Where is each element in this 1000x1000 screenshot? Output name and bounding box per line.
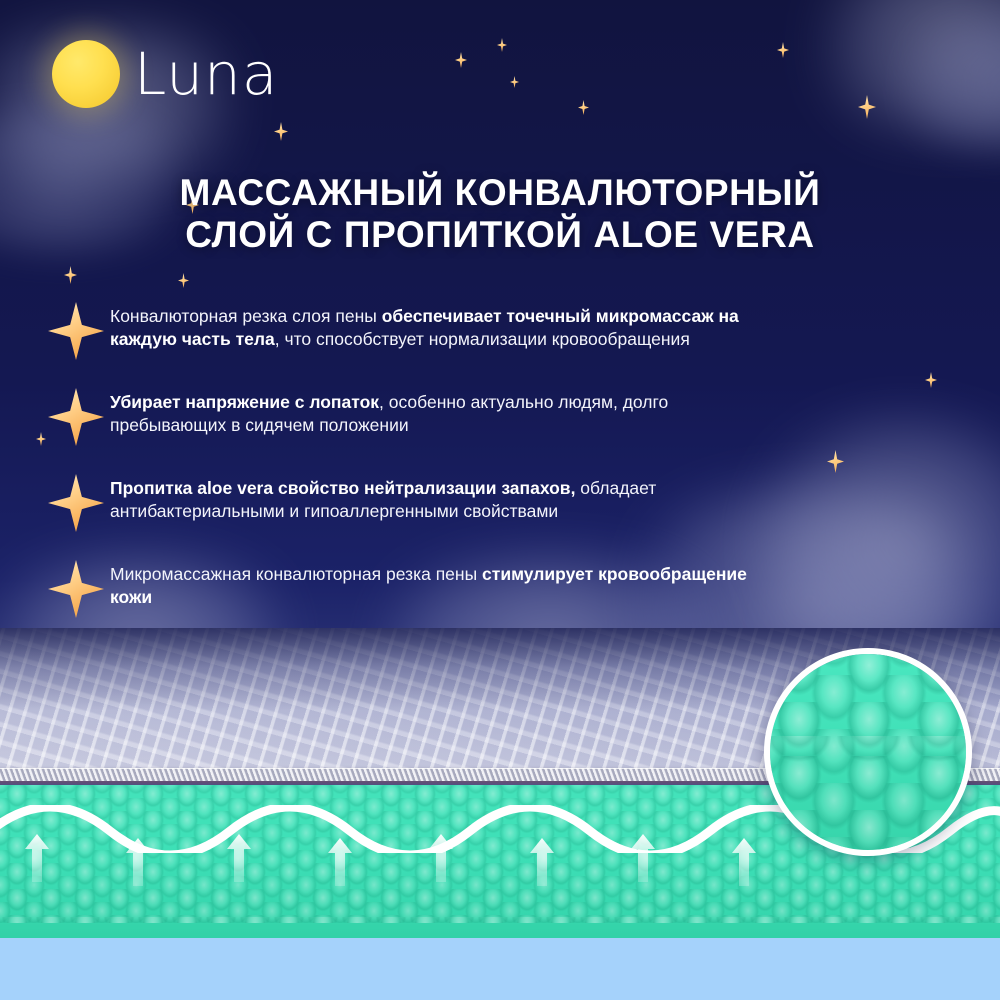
feature-item: Конвалюторная резка слоя пены обеспечива… bbox=[48, 300, 748, 360]
brand-wordmark: Luna bbox=[134, 45, 278, 103]
feature-item: Микромассажная конвалюторная резка пены … bbox=[48, 558, 748, 618]
feature-text-plain: Конвалюторная резка слоя пены bbox=[110, 306, 382, 326]
sparkle-star-icon bbox=[48, 474, 104, 532]
floor-band bbox=[0, 938, 1000, 1000]
feature-item: Пропитка aloe vera свойство нейтрализаци… bbox=[48, 472, 748, 532]
airflow-arrow-icon bbox=[125, 837, 151, 887]
feature-text-emphasis: Пропитка aloe vera свойство нейтрализаци… bbox=[110, 478, 575, 498]
mattress-cross-section bbox=[0, 628, 1000, 1000]
page-title: МАССАЖНЫЙ КОНВАЛЮТОРНЫЙ СЛОЙ С ПРОПИТКОЙ… bbox=[0, 172, 1000, 256]
feature-item: Убирает напряжение с лопаток, особенно а… bbox=[48, 386, 748, 446]
feature-text-emphasis: Убирает напряжение с лопаток bbox=[110, 392, 379, 412]
airflow-arrow-icon bbox=[226, 833, 252, 883]
feature-text-plain: , что способствует нормализации кровообр… bbox=[275, 329, 690, 349]
feature-item-text: Пропитка aloe vera свойство нейтрализаци… bbox=[110, 472, 748, 524]
sparkle-star-icon bbox=[48, 388, 104, 446]
moon-icon bbox=[52, 40, 120, 108]
brand-logo[interactable]: Luna bbox=[52, 40, 278, 108]
airflow-arrow-icon bbox=[428, 833, 454, 883]
page-title-line-2: СЛОЙ С ПРОПИТКОЙ ALOE VERA bbox=[0, 214, 1000, 256]
airflow-arrow-icon bbox=[529, 837, 555, 887]
feature-text-plain: Микромассажная конвалюторная резка пены bbox=[110, 564, 482, 584]
sparkle-star-icon bbox=[48, 560, 104, 618]
feature-item-text: Конвалюторная резка слоя пены обеспечива… bbox=[110, 300, 748, 352]
page-title-line-1: МАССАЖНЫЙ КОНВАЛЮТОРНЫЙ bbox=[180, 172, 821, 213]
feature-item-text: Убирает напряжение с лопаток, особенно а… bbox=[110, 386, 748, 438]
promo-banner: Luna МАССАЖНЫЙ КОНВАЛЮТОРНЫЙ СЛОЙ С ПРОП… bbox=[0, 0, 1000, 1000]
airflow-arrow-icon bbox=[327, 837, 353, 887]
feature-list: Конвалюторная резка слоя пены обеспечива… bbox=[48, 300, 748, 644]
airflow-arrow-icon bbox=[630, 833, 656, 883]
sparkle-star-icon bbox=[48, 302, 104, 360]
airflow-arrow-icon bbox=[731, 837, 757, 887]
airflow-arrow-icon bbox=[24, 833, 50, 883]
foam-texture-magnifier[interactable] bbox=[764, 648, 972, 856]
magnifier-scallop-edge bbox=[764, 736, 972, 792]
feature-item-text: Микромассажная конвалюторная резка пены … bbox=[110, 558, 748, 610]
